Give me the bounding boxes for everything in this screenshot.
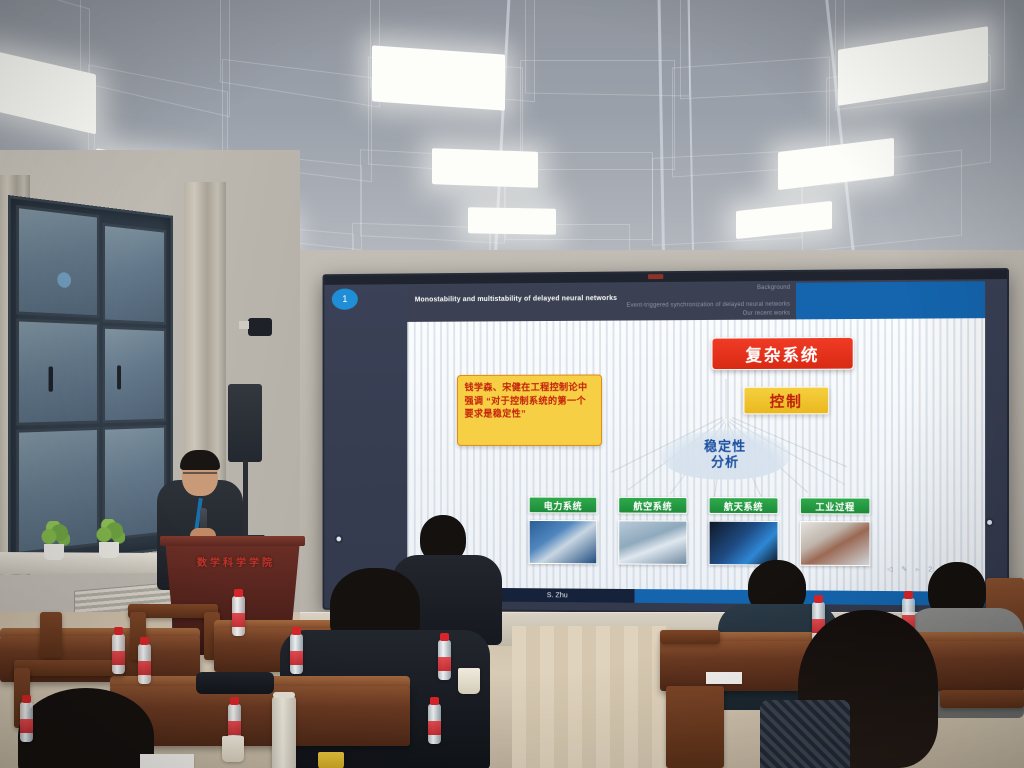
potted-plant xyxy=(95,514,125,558)
front-left-attendee xyxy=(18,688,158,768)
power-substation-photo xyxy=(529,520,597,564)
ir-sensor-icon xyxy=(648,274,663,279)
water-bottle[interactable] xyxy=(232,596,245,636)
complex-system-box: 复杂系统 xyxy=(712,337,854,370)
ceiling-light-panel xyxy=(432,148,538,188)
backpack xyxy=(196,672,274,694)
presenter-hair xyxy=(180,450,220,470)
notebook[interactable] xyxy=(706,672,742,684)
window-sill xyxy=(0,552,179,574)
app-label-aviation: 航空系统 xyxy=(618,497,687,514)
podium-inscription: 数学科学学院 xyxy=(186,554,286,569)
prev-slide-icon[interactable]: ◁ xyxy=(887,565,892,573)
speaker-stand xyxy=(243,460,248,540)
slide-number-badge: 1 xyxy=(332,288,358,309)
water-bottle[interactable] xyxy=(138,644,151,684)
water-bottle[interactable] xyxy=(290,634,303,674)
app-label-aerospace: 航天系统 xyxy=(709,497,779,514)
glasses-icon xyxy=(183,472,217,479)
application-item-industry: 工业过程 xyxy=(800,497,871,566)
water-bottle[interactable] xyxy=(438,640,451,680)
cloud-line-2: 分析 xyxy=(711,455,739,471)
water-bottle[interactable] xyxy=(428,704,441,744)
slide-header: Background Monostability and multistabil… xyxy=(407,281,985,322)
attendee-head xyxy=(18,688,154,768)
chair xyxy=(14,660,124,676)
header-accent-block xyxy=(796,281,985,319)
display-power-indicator-left[interactable] xyxy=(335,535,343,544)
wall-camera-icon xyxy=(248,318,272,336)
presenter-name: S. Zhu xyxy=(547,590,568,599)
center-aisle xyxy=(512,626,670,768)
application-row: 电力系统 航空系统 航天系统 工业过程 xyxy=(529,497,985,567)
chair xyxy=(666,686,724,768)
lecture-hall-scene: 1 Background Monostability and multistab… xyxy=(0,0,1024,768)
slide-nav-list: Background Monostability and multistabil… xyxy=(407,283,796,322)
paper-cup[interactable] xyxy=(318,752,344,768)
notebook[interactable] xyxy=(140,754,194,768)
water-bottle[interactable] xyxy=(20,702,33,742)
cloud-line-1: 稳定性 xyxy=(704,439,746,455)
application-item-aviation: 航空系统 xyxy=(618,497,687,565)
ceiling-light-panel xyxy=(372,45,505,110)
satellite-photo xyxy=(709,521,779,566)
ceiling-light-panel xyxy=(468,207,556,235)
wall-speaker-icon xyxy=(228,384,262,462)
front-right-attendee-body xyxy=(760,700,850,768)
stability-analysis-cloud: 稳定性 分析 xyxy=(661,430,789,479)
nav-item-recent-works[interactable]: Our recent works xyxy=(407,309,790,320)
paper-cup[interactable] xyxy=(458,668,480,694)
airplane-photo xyxy=(618,520,687,565)
window xyxy=(8,195,173,570)
chair xyxy=(940,690,1024,708)
paper-cup[interactable] xyxy=(222,736,244,762)
display-power-indicator-right[interactable] xyxy=(985,518,994,527)
application-item-aerospace: 航天系统 xyxy=(709,497,779,565)
water-bottle[interactable] xyxy=(112,634,125,674)
chair xyxy=(40,612,62,658)
thermos[interactable] xyxy=(272,696,296,768)
control-box: 控制 xyxy=(743,387,829,415)
podium-top-surface xyxy=(160,536,305,546)
app-label-power: 电力系统 xyxy=(529,497,597,514)
application-item-power: 电力系统 xyxy=(529,497,597,565)
chair xyxy=(660,630,720,644)
app-label-industry: 工业过程 xyxy=(800,497,871,514)
potted-plant xyxy=(40,518,70,560)
quote-box: 钱学森、宋健在工程控制论中强调 “对于控制系统的第一个要求是稳定性” xyxy=(457,374,602,445)
